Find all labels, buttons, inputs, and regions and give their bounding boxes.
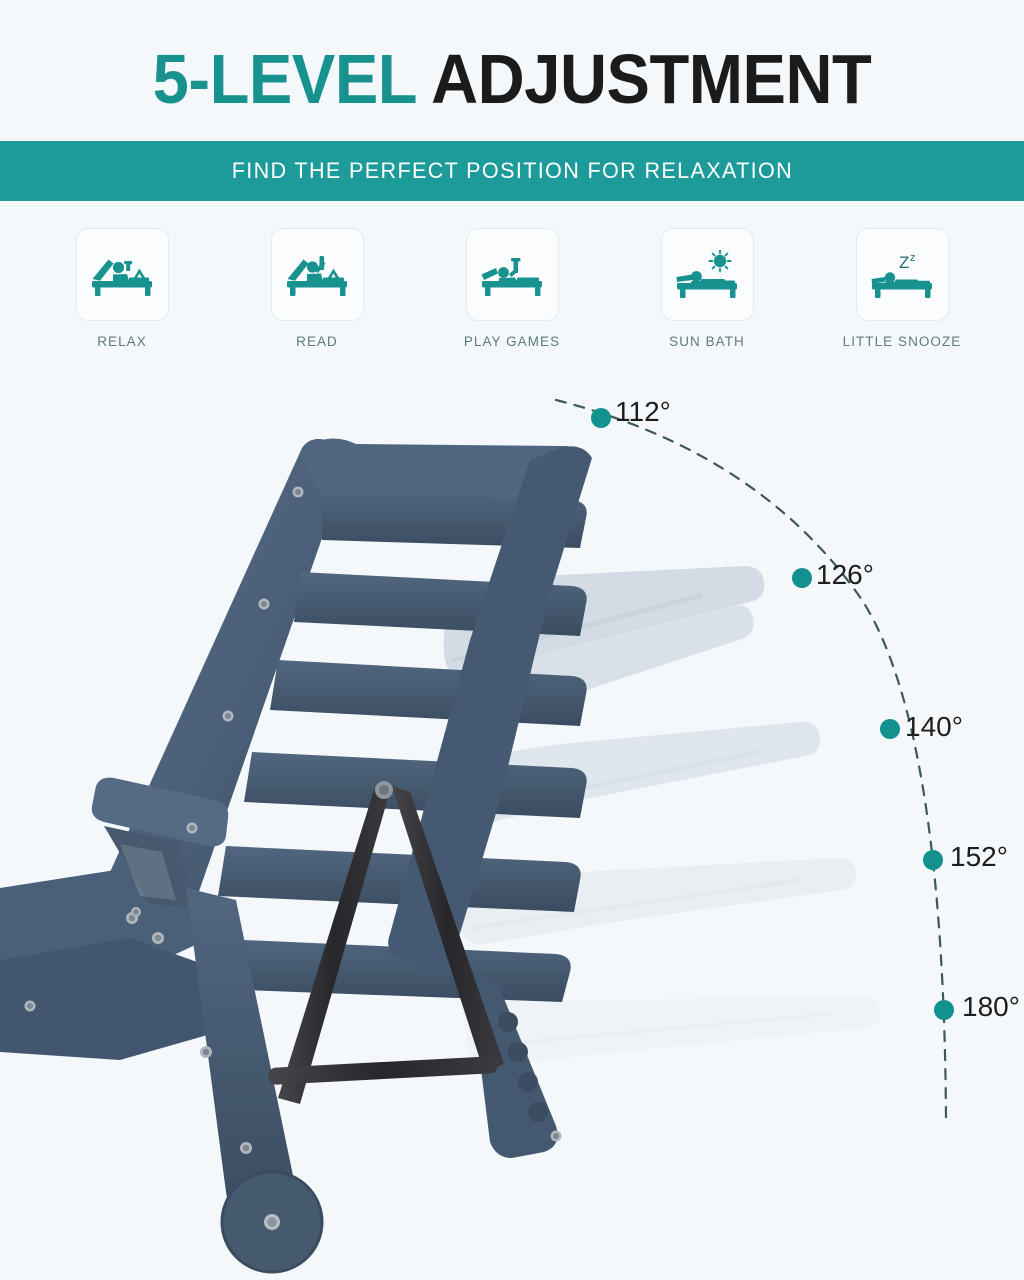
angle-dot-140 xyxy=(880,719,900,739)
angle-dot-112 xyxy=(591,408,611,428)
angle-label-180: 180° xyxy=(962,991,1020,1023)
chair-recline-diagram xyxy=(0,0,1024,1280)
angle-label-152: 152° xyxy=(950,841,1008,873)
angle-label-112: 112° xyxy=(615,396,671,428)
infographic-canvas: 5-LEVEL ADJUSTMENT FIND THE PERFECT POSI… xyxy=(0,0,1024,1280)
angle-label-126: 126° xyxy=(816,559,874,591)
angle-label-140: 140° xyxy=(905,711,963,743)
chaise-lounge-chair xyxy=(0,439,592,1272)
angle-markers xyxy=(591,408,954,1020)
angle-dot-180 xyxy=(934,1000,954,1020)
angle-dot-126 xyxy=(792,568,812,588)
caster-wheel xyxy=(222,1172,322,1272)
angle-dot-152 xyxy=(923,850,943,870)
